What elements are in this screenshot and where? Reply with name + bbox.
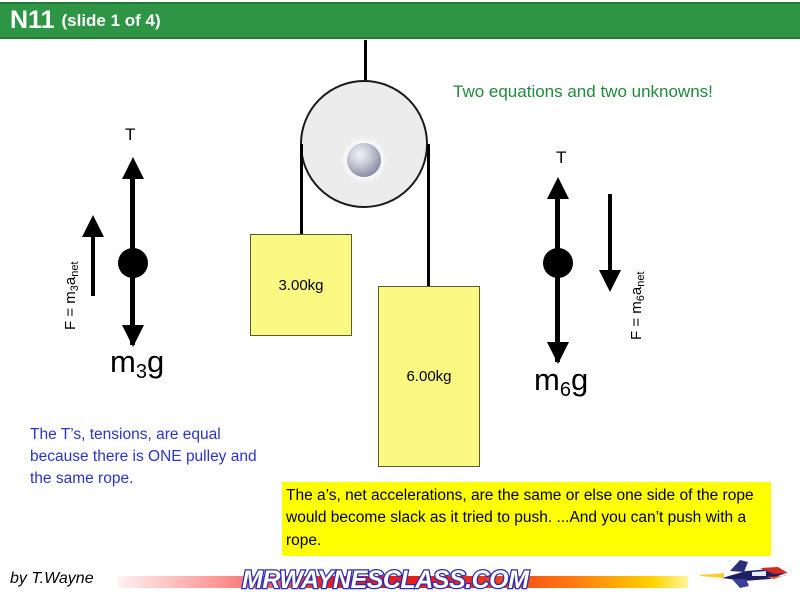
blue-annotation-text: The T’s, tensions, are equal because the… [30, 424, 270, 490]
slide-header-banner: N11 (slide 1 of 4) [0, 2, 800, 39]
rope-right-segment [427, 144, 430, 288]
fbd-left-net-shaft [91, 234, 95, 296]
mass-block-right-label: 6.00kg [406, 368, 451, 385]
fbd-left-weight-label: m3g [110, 344, 164, 380]
mass-block-left: 3.00kg [250, 234, 352, 336]
fbd-right-net-shaft [608, 194, 612, 272]
slide-counter: (slide 1 of 4) [61, 12, 160, 29]
fbd-right-weight-label: m6g [534, 362, 588, 398]
yellow-highlight-annotation: The a’s, net accelerations, are the same… [282, 482, 771, 556]
mass-block-right: 6.00kg [378, 286, 480, 467]
slide-code: N11 [10, 8, 54, 33]
fbd-left-mass-dot [118, 248, 148, 278]
jet-icon [700, 558, 792, 592]
fbd-right-weight-arrowhead-icon [547, 342, 569, 364]
mass-block-left-label: 3.00kg [278, 277, 323, 294]
fbd-left-net-force-label: F = m3anet [62, 261, 79, 330]
pulley-hub-icon [347, 143, 381, 177]
fbd-right-net-force-label: F = m6anet [628, 271, 645, 340]
green-annotation-text: Two equations and two unknowns! [453, 82, 713, 102]
rope-left-segment [300, 144, 303, 236]
footer-site-url: MRWAYNESCLASS.COM [242, 566, 528, 595]
fbd-right-net-arrowhead-icon [599, 270, 621, 292]
fbd-left-tension-label: T [125, 125, 135, 145]
fbd-right-tension-label: T [556, 148, 566, 168]
footer-author: by T.Wayne [10, 570, 94, 588]
fbd-right-force-shaft [555, 195, 560, 362]
fbd-right-mass-dot [543, 248, 573, 278]
